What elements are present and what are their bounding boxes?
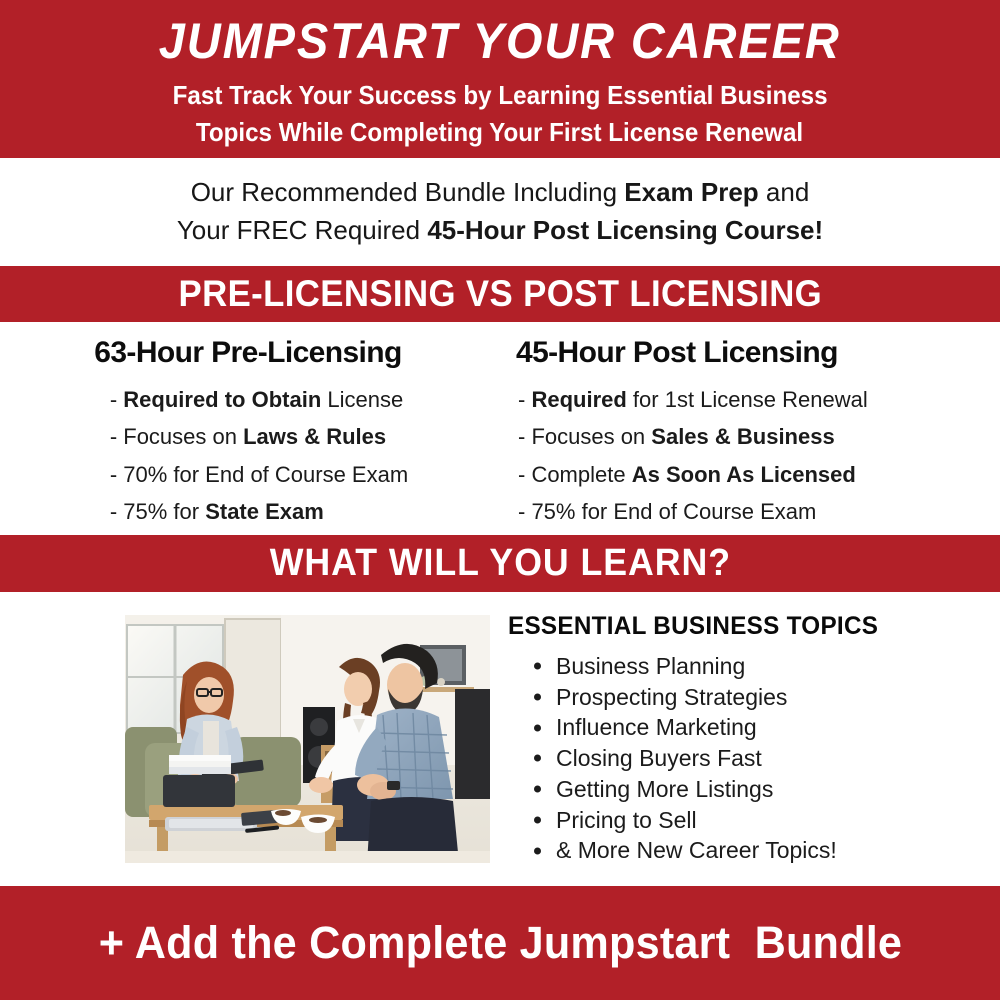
list-item: - 70% for End of Course Exam <box>110 456 408 493</box>
page-title: JUMPSTART YOUR CAREER <box>159 14 841 68</box>
intro-line-1-prefix: Our Recommended Bundle Including <box>191 177 625 207</box>
list-item: Getting More Listings <box>530 774 978 805</box>
list-item: - 75% for State Exam <box>110 493 408 530</box>
item-suffix: License <box>321 387 403 412</box>
promo-graphic: JUMPSTART YOUR CAREER Fast Track Your Su… <box>0 0 1000 1000</box>
learn-section: ESSENTIAL BUSINESS TOPICS Business Plann… <box>0 592 1000 886</box>
item-prefix: - Focuses on <box>110 424 243 449</box>
item-emphasis: Sales & Business <box>651 424 834 449</box>
bullet-icon <box>534 724 541 731</box>
list-item: - Focuses on Sales & Business <box>518 418 868 455</box>
list-item: Prospecting Strategies <box>530 682 978 713</box>
intro-line-2: Your FREC Required 45-Hour Post Licensin… <box>177 212 823 250</box>
bullet-icon <box>534 786 541 793</box>
item-prefix: - 70% for End of Course Exam <box>110 462 408 487</box>
bullet-icon <box>534 816 541 823</box>
intro-line-1-emphasis: Exam Prep <box>624 177 758 207</box>
item-emphasis: State Exam <box>205 499 324 524</box>
add-bundle-cta-label[interactable]: + Add the Complete Jumpstart Bundle <box>98 917 901 969</box>
header-subtitle-line-2: Topics While Completing Your First Licen… <box>196 114 803 151</box>
topic-label: Pricing to Sell <box>556 807 697 833</box>
compare-banner-title: PRE-LICENSING VS POST LICENSING <box>178 273 822 315</box>
topic-label: & More New Career Topics! <box>556 837 837 863</box>
pre-licensing-column: 63-Hour Pre-Licensing - Required to Obta… <box>0 322 500 535</box>
learn-banner-title: WHAT WILL YOU LEARN? <box>269 542 730 585</box>
list-item: Pricing to Sell <box>530 805 978 836</box>
meeting-photo-illustration <box>125 615 490 863</box>
topic-label: Influence Marketing <box>556 714 757 740</box>
item-prefix: - 75% for End of Course Exam <box>518 499 816 524</box>
bullet-icon <box>534 663 541 670</box>
intro-line-1-suffix: and <box>759 177 810 207</box>
topics-heading: ESSENTIAL BUSINESS TOPICS <box>508 612 964 641</box>
list-item: - Required for 1st License Renewal <box>518 381 868 418</box>
meeting-photo <box>125 615 490 863</box>
list-item: Closing Buyers Fast <box>530 743 978 774</box>
list-item: Business Planning <box>530 651 978 682</box>
topics-list: Business Planning Prospecting Strategies… <box>530 651 978 866</box>
topics-block: ESSENTIAL BUSINESS TOPICS Business Plann… <box>508 612 978 866</box>
topic-label: Business Planning <box>556 653 745 679</box>
list-item: - Complete As Soon As Licensed <box>518 456 868 493</box>
topic-label: Getting More Listings <box>556 776 773 802</box>
post-licensing-column: 45-Hour Post Licensing - Required for 1s… <box>500 322 1000 535</box>
list-item: - Required to Obtain License <box>110 381 408 418</box>
item-emphasis: Laws & Rules <box>243 424 386 449</box>
intro-line-1: Our Recommended Bundle Including Exam Pr… <box>191 174 810 212</box>
item-prefix: - <box>110 387 123 412</box>
add-bundle-cta-banner[interactable]: + Add the Complete Jumpstart Bundle <box>0 886 1000 1000</box>
header-subtitle: Fast Track Your Success by Learning Esse… <box>148 77 852 151</box>
pre-licensing-heading: 63-Hour Pre-Licensing <box>94 336 401 370</box>
item-suffix: for 1st License Renewal <box>627 387 868 412</box>
item-emphasis: As Soon As Licensed <box>632 462 856 487</box>
item-emphasis: Required to Obtain <box>123 387 321 412</box>
compare-section-banner: PRE-LICENSING VS POST LICENSING <box>0 266 1000 322</box>
topic-label: Closing Buyers Fast <box>556 745 762 771</box>
post-licensing-heading: 45-Hour Post Licensing <box>516 336 838 370</box>
list-item: - 75% for End of Course Exam <box>518 493 868 530</box>
bullet-icon <box>534 847 541 854</box>
item-prefix: - <box>518 387 531 412</box>
pre-licensing-list: - Required to Obtain License - Focuses o… <box>110 381 408 531</box>
list-item: & More New Career Topics! <box>530 835 978 866</box>
header-banner: JUMPSTART YOUR CAREER Fast Track Your Su… <box>0 0 1000 158</box>
bullet-icon <box>534 755 541 762</box>
item-prefix: - Complete <box>518 462 632 487</box>
list-item: Influence Marketing <box>530 712 978 743</box>
learn-section-banner: WHAT WILL YOU LEARN? <box>0 535 1000 592</box>
item-emphasis: Required <box>531 387 626 412</box>
intro-line-2-emphasis: 45-Hour Post Licensing Course! <box>427 215 823 245</box>
intro-line-2-prefix: Your FREC Required <box>177 215 428 245</box>
bullet-icon <box>534 694 541 701</box>
intro-section: Our Recommended Bundle Including Exam Pr… <box>0 158 1000 266</box>
item-prefix: - 75% for <box>110 499 205 524</box>
comparison-section: 63-Hour Pre-Licensing - Required to Obta… <box>0 322 1000 535</box>
list-item: - Focuses on Laws & Rules <box>110 418 408 455</box>
item-prefix: - Focuses on <box>518 424 651 449</box>
topic-label: Prospecting Strategies <box>556 684 787 710</box>
header-subtitle-line-1: Fast Track Your Success by Learning Esse… <box>173 77 828 114</box>
